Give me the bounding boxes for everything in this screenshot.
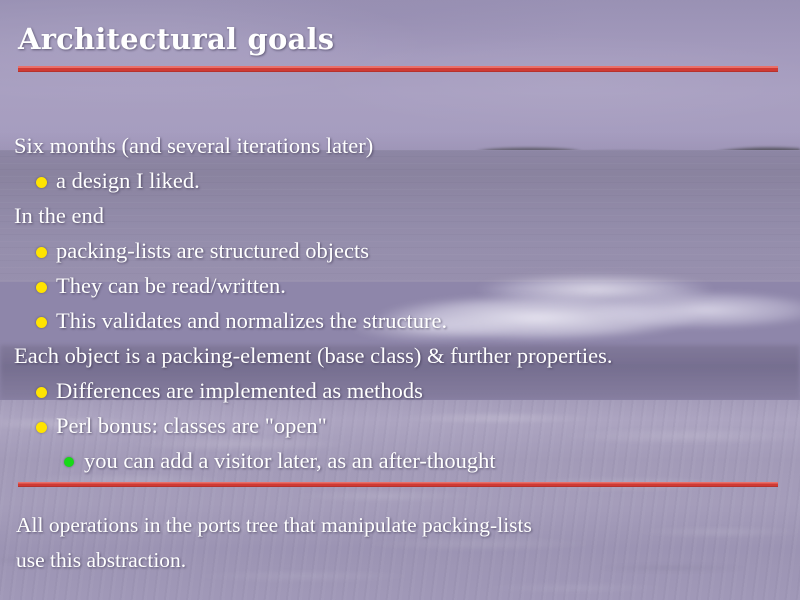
list-item-label: packing-lists are structured objects <box>56 238 369 263</box>
list-item-label: you can add a visitor later, as an after… <box>84 448 496 473</box>
footer-line: use this abstraction. <box>0 543 800 578</box>
bullet-dot-icon <box>36 422 47 433</box>
list-item-label: Six months (and several iterations later… <box>14 133 373 158</box>
list-item: packing-lists are structured objects <box>0 233 800 268</box>
list-item-label: Perl bonus: classes are "open" <box>56 413 327 438</box>
presentation-slide: Architectural goals Six months (and seve… <box>0 0 800 600</box>
page-title: Architectural goals <box>18 22 334 56</box>
bullet-list: Six months (and several iterations later… <box>0 128 800 478</box>
footer-divider-rule <box>18 482 778 487</box>
list-item: In the end <box>0 198 800 233</box>
list-item: Six months (and several iterations later… <box>0 128 800 163</box>
list-item-label: Differences are implemented as methods <box>56 378 423 403</box>
bullet-dot-icon <box>36 177 47 188</box>
list-item: Each object is a packing-element (base c… <box>0 338 800 373</box>
list-item-label: In the end <box>14 203 104 228</box>
list-item: This validates and normalizes the struct… <box>0 303 800 338</box>
bullet-dot-icon <box>36 317 47 328</box>
list-item-label: a design I liked. <box>56 168 200 193</box>
list-item-label: Each object is a packing-element (base c… <box>14 343 613 368</box>
list-item: you can add a visitor later, as an after… <box>0 443 800 478</box>
title-divider-rule <box>18 66 778 72</box>
list-item-label: They can be read/written. <box>56 273 286 298</box>
footer-text: All operations in the ports tree that ma… <box>0 508 800 578</box>
list-item: a design I liked. <box>0 163 800 198</box>
list-item: Differences are implemented as methods <box>0 373 800 408</box>
bullet-dot-icon <box>36 282 47 293</box>
list-item: Perl bonus: classes are "open" <box>0 408 800 443</box>
bullet-dot-icon <box>36 387 47 398</box>
bullet-dot-icon <box>36 247 47 258</box>
list-item: They can be read/written. <box>0 268 800 303</box>
bullet-dot-icon <box>64 457 74 467</box>
list-item-label: This validates and normalizes the struct… <box>56 308 447 333</box>
footer-line: All operations in the ports tree that ma… <box>0 508 800 543</box>
slide-content: Architectural goals Six months (and seve… <box>0 0 800 600</box>
